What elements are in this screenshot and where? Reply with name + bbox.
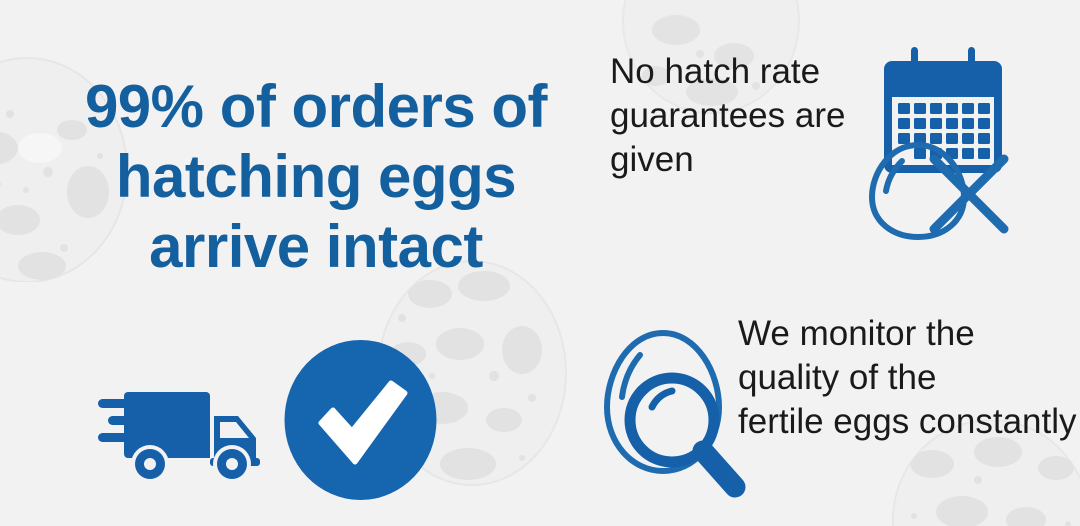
check-circle-icon <box>283 339 438 501</box>
statement-2-line-1: We monitor the <box>738 312 1080 356</box>
statement-1-line-1: No hatch rate <box>610 50 910 94</box>
statement-2-line-2: quality of the <box>738 356 1080 400</box>
page-title: 99% of orders of hatching eggs arrive in… <box>66 72 566 282</box>
statement-1-line-2: guarantees are <box>610 94 910 138</box>
statement-2-line-3: fertile eggs constantly <box>738 400 1080 444</box>
statement-no-hatch-rate-guarantees: No hatch rate guarantees are given <box>610 50 910 182</box>
egg-magnifier-icon <box>600 325 752 500</box>
statement-1-line-3: given <box>610 138 910 182</box>
calendar-egg-cross-icon <box>876 45 1026 240</box>
delivery-truck-icon <box>98 382 278 487</box>
headline-line-2: hatching eggs <box>66 142 566 212</box>
headline-line-1: 99% of orders of <box>66 72 566 142</box>
infographic-slide: 99% of orders of hatching eggs arrive in… <box>0 0 1080 526</box>
headline-line-3: arrive intact <box>66 212 566 282</box>
statement-quality-monitoring: We monitor the quality of the fertile eg… <box>738 312 1080 444</box>
